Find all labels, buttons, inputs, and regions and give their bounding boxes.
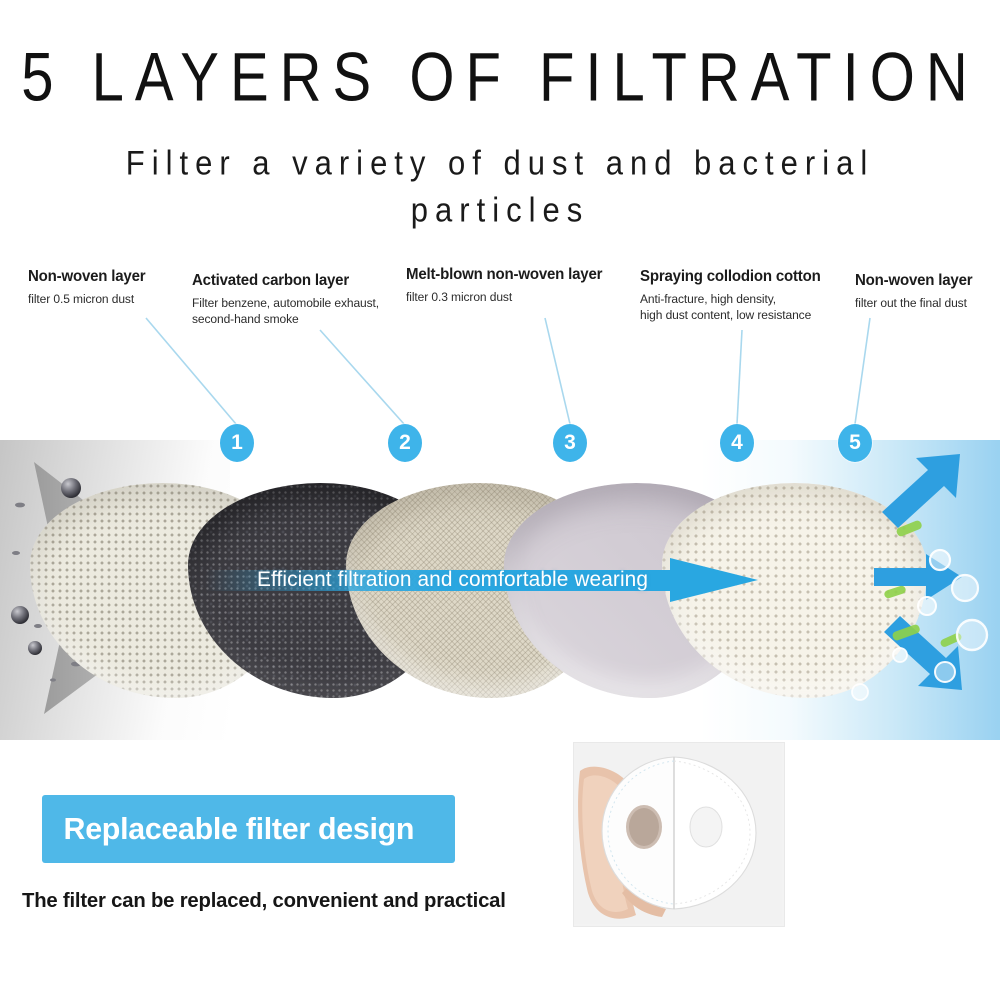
filter-layers-diagram	[0, 440, 1000, 740]
leader-line-2	[320, 330, 404, 424]
infographic-page: 5 LAYERS OF FILTRATION Filter a variety …	[0, 0, 1000, 1000]
callout-3-desc: filter 0.3 micron dust	[406, 290, 602, 306]
callout-4-desc-line-2: high dust content, low resistance	[640, 308, 821, 324]
callout-layer-5: Non-woven layer filter out the final dus…	[855, 272, 976, 312]
callout-4-title: Spraying collodion cotton	[640, 268, 821, 286]
callout-layer-3: Melt-blown non-woven layer filter 0.3 mi…	[406, 266, 608, 306]
replaceable-filter-note: The filter can be replaced, convenient a…	[22, 889, 506, 913]
replaceable-filter-banner-label: Replaceable filter design	[42, 811, 414, 847]
callout-5-title: Non-woven layer	[855, 272, 972, 290]
leader-line-4	[737, 330, 742, 424]
layer-number-badge-2: 2	[388, 424, 422, 462]
callout-1-desc-line-1: filter 0.5 micron dust	[28, 292, 145, 308]
callout-2-desc-line-2: second-hand smoke	[192, 312, 379, 328]
replaceable-filter-photo	[573, 742, 785, 927]
callout-3-desc-line-1: filter 0.3 micron dust	[406, 290, 602, 306]
layer-number-badge-1: 1	[220, 424, 254, 462]
callout-5-desc-line-1: filter out the final dust	[855, 296, 972, 312]
layer-number-badge-5: 5	[838, 424, 872, 462]
callout-1-title: Non-woven layer	[28, 268, 145, 286]
callout-5-desc: filter out the final dust	[855, 296, 972, 312]
leader-line-3	[545, 318, 570, 424]
callout-layer-4: Spraying collodion cotton Anti-fracture,…	[640, 268, 826, 324]
callout-2-title: Activated carbon layer	[192, 272, 379, 290]
leader-line-1	[146, 318, 236, 424]
callout-2-desc: Filter benzene, automobile exhaust, seco…	[192, 296, 379, 328]
callout-4-desc-line-1: Anti-fracture, high density,	[640, 292, 821, 308]
callout-layer-1: Non-woven layer filter 0.5 micron dust	[28, 268, 149, 308]
header-block: 5 LAYERS OF FILTRATION Filter a variety …	[0, 0, 1000, 219]
callout-3-title: Melt-blown non-woven layer	[406, 266, 602, 284]
callout-layer-2: Activated carbon layer Filter benzene, a…	[192, 272, 385, 328]
page-subtitle: Filter a variety of dust and bacterial p…	[60, 97, 940, 233]
mask-valve-hole-right	[690, 807, 722, 847]
layer-number-badge-3: 3	[553, 424, 587, 462]
callout-1-desc: filter 0.5 micron dust	[28, 292, 145, 308]
callout-2-desc-line-1: Filter benzene, automobile exhaust,	[192, 296, 379, 312]
replaceable-filter-banner: Replaceable filter design	[42, 795, 455, 863]
callout-4-desc: Anti-fracture, high density, high dust c…	[640, 292, 821, 324]
leader-line-5	[855, 318, 870, 424]
layer-number-badge-4: 4	[720, 424, 754, 462]
